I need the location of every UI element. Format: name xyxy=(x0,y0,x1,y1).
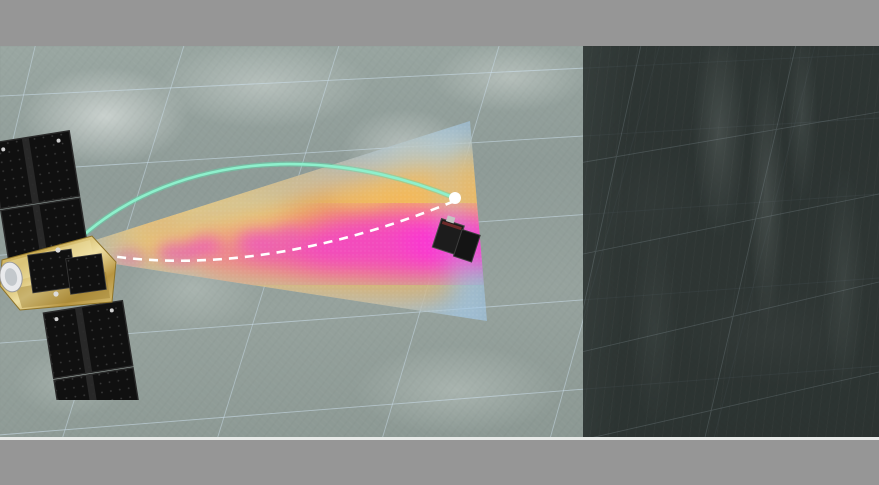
chaser-satellite xyxy=(0,110,174,400)
letterbox-top xyxy=(0,0,879,46)
panel-grid-lines xyxy=(583,46,879,437)
letterbox-bottom xyxy=(0,440,879,485)
screenshot-root: Low risk Medium risk High risk Nominal t… xyxy=(0,0,879,485)
target-satellite xyxy=(424,214,486,276)
body-panel-right xyxy=(66,254,107,295)
target-waypoint-marker xyxy=(449,192,461,204)
legend-panel: Low risk Medium risk High risk Nominal t… xyxy=(583,46,879,437)
visualization-stage: Low risk Medium risk High risk Nominal t… xyxy=(0,46,879,437)
solar-panel-lower xyxy=(43,301,143,400)
